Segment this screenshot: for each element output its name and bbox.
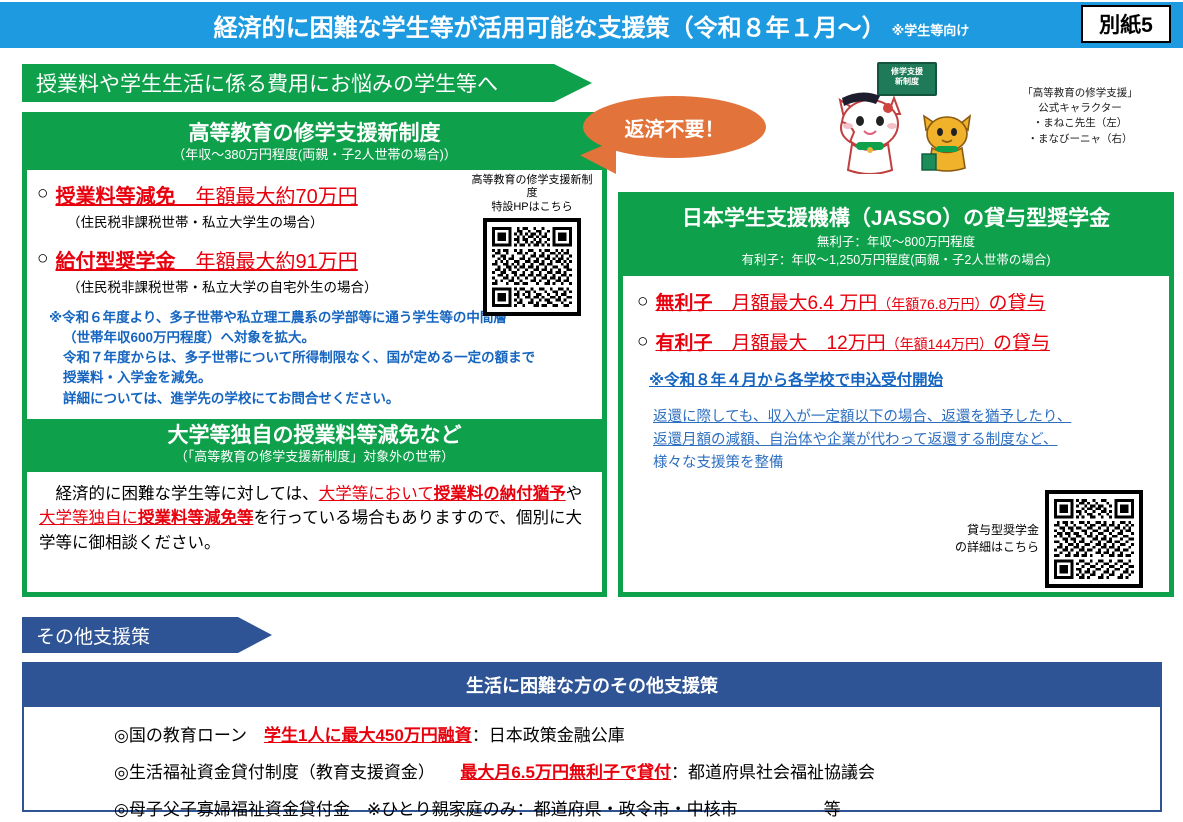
row-1-highlight: 学生1人に最大450万円融資	[264, 726, 472, 745]
qr-jasso-caption-line2: の詳細はこちら	[955, 539, 1039, 555]
jasso-bullet-1: ○ 無利子 月額最大6.4 万円（年額76.8万円）の貸与	[637, 288, 1159, 315]
other-support-row-2: ◎生活福祉資金貸付制度（教育支援資金） 最大月6.5万円無利子で貸付：都道府県社…	[114, 758, 1160, 783]
jasso-band-subtitle-2: 有利子：年収～1,250万円程度(両親・子2人世帯の場合)	[627, 252, 1165, 268]
para-seg-3: 授業料の納付猶予	[434, 485, 566, 503]
jasso-repayment-line-1: 返還に際しても、収入が一定額以下の場合、返還を猶予したり、	[653, 406, 1159, 429]
left-panel-band-1-subtitle: （年収～380万円程度(両親・子2人世帯の場合)）	[31, 147, 598, 163]
jasso-bullet-2: ○ 有利子 月額最大 12万円（年額144万円）の貸与	[637, 328, 1159, 355]
speech-bubble-no-repayment: 返済不要！	[583, 96, 766, 158]
jasso-application-notice: ※令和８年４月から各学校で申込受付開始	[649, 368, 1159, 390]
page-title: 経済的に困難な学生等が活用可能な支援策（令和８年１月～）	[214, 8, 886, 43]
left-bullet-1-amount: 年額最大約70万円	[175, 186, 357, 208]
row-3-lead: ◎母子父子寡婦福祉資金貸付金 ※ひとり親家庭のみ：都道府県・政令市・中核市	[114, 800, 738, 819]
jasso-bullet-1-term: 無利子	[655, 293, 712, 314]
maneko-sensei-cat-icon	[830, 84, 916, 174]
mascot-group: 修学支援 新制度 「高等教育の修学支援」 公式キャラクター ・まねこ先生（左） …	[822, 62, 1172, 182]
qr-jasso-caption: 貸与型奨学金 の詳細はこちら	[955, 522, 1039, 554]
page-header-bar: 経済的に困難な学生等が活用可能な支援策（令和８年１月～） ※学生等向け	[0, 2, 1183, 48]
left-panel-body: 高等教育の修学支援新制度 特設HPはこちら ○ 授業料等	[27, 170, 602, 409]
other-support-table: 生活に困難な方のその他支援策 ◎国の教育ローン 学生1人に最大450万円融資：日…	[22, 662, 1162, 812]
document-number-badge: 別紙5	[1081, 5, 1171, 43]
jasso-repayment-line-3: 様々な支援策を整備	[653, 452, 1159, 475]
bullet-circle-icon: ○	[37, 249, 48, 268]
jasso-bullet-2-tail: の貸与	[993, 333, 1050, 354]
left-panel-band-1: 高等教育の修学支援新制度 （年収～380万円程度(両親・子2人世帯の場合)）	[27, 117, 602, 170]
mascot-caption-line2: 公式キャラクター	[990, 101, 1170, 116]
qr-block-jasso[interactable]: 貸与型奨学金 の詳細はこちら	[955, 490, 1143, 588]
panel-shugaku-shien: 高等教育の修学支援新制度 （年収～380万円程度(両親・子2人世帯の場合)） 高…	[22, 112, 607, 597]
blue-note-line-4: 授業料・入学金を減免。	[49, 368, 592, 388]
jasso-repayment-line-2: 返還月額の減額、自治体や企業が代わって返還する制度など、	[653, 429, 1159, 452]
left-panel-band-2-title: 大学等独自の授業料等減免など	[31, 424, 598, 448]
blue-note-line-3: 令和７年度からは、多子世帯について所得制限なく、国が定める一定の額まで	[49, 348, 592, 368]
jasso-body: ○ 無利子 月額最大6.4 万円（年額76.8万円）の貸与 ○ 有利子 月額最大…	[623, 276, 1169, 594]
blue-note-line-2: （世帯年収600万円程度）へ対象を拡大。	[49, 328, 592, 348]
row-1-lead: ◎国の教育ローン	[114, 726, 264, 745]
jasso-band: 日本学生支援機構（JASSO）の貸与型奨学金 無利子：年収～800万円程度 有利…	[623, 197, 1169, 276]
left-panel-band-2-subtitle: （「高等教育の修学支援新制度」対象外の世帯）	[31, 449, 598, 465]
speech-bubble-label: 返済不要！	[625, 113, 725, 142]
mascot-caption-line4: ・まなびーニャ（右）	[990, 132, 1170, 147]
para-seg-1: 経済的に困難な学生等に対しては、	[39, 485, 319, 503]
mascot-caption-line3: ・まねこ先生（左）	[990, 116, 1170, 131]
left-bullet-2-term: 給付型奨学金	[55, 251, 175, 273]
row-2-highlight: 最大月6.5万円無利子で貸付	[460, 763, 671, 782]
left-bullet-1-text: 授業料等減免 年額最大約70万円	[55, 180, 357, 209]
para-seg-5: 大学等独自に	[39, 509, 138, 527]
jasso-bullet-1-annual: （年額76.8万円）	[877, 296, 988, 312]
qr-caption-line1: 高等教育の修学支援新制度	[468, 174, 596, 202]
qr-caption-line2: 特設HPはこちら	[468, 201, 596, 215]
left-panel-band-1-title: 高等教育の修学支援新制度	[31, 122, 598, 146]
jasso-bullet-2-amount: 月額最大 12万円	[713, 333, 886, 354]
jasso-bullet-1-tail: の貸与	[988, 293, 1045, 314]
para-seg-4: や	[566, 485, 583, 503]
row-1-tail: ：日本政策金融公庫	[472, 726, 625, 745]
jasso-bullet-2-term: 有利子	[655, 333, 712, 354]
manabi-nya-cat-icon	[918, 108, 978, 174]
left-panel-paragraph: 経済的に困難な学生等に対しては、大学等において授業料の納付猶予や大学等独自に授業…	[27, 472, 602, 566]
left-panel-band-2: 大学等独自の授業料等減免など （「高等教育の修学支援新制度」対象外の世帯）	[27, 419, 602, 472]
mascot-caption-line1: 「高等教育の修学支援」	[990, 86, 1170, 101]
jasso-bullet-2-annual: （年額144万円）	[886, 336, 993, 352]
other-support-row-1: ◎国の教育ローン 学生1人に最大450万円融資：日本政策金融公庫	[114, 721, 1160, 746]
jasso-repayment-note: 返還に際しても、収入が一定額以下の場合、返還を猶予したり、 返還月額の減額、自治…	[653, 406, 1159, 476]
jasso-bullet-1-text: 無利子 月額最大6.4 万円（年額76.8万円）の貸与	[655, 288, 1045, 315]
section-banner-other-support-label: その他支援策	[36, 622, 150, 649]
other-support-row-3: ◎母子父子寡婦福祉資金貸付金 ※ひとり親家庭のみ：都道府県・政令市・中核市等	[114, 795, 1160, 820]
row-3-extra: 等	[824, 800, 841, 819]
para-seg-6: 授業料等減免等	[138, 509, 254, 527]
jasso-band-title: 日本学生支援機構（JASSO）の貸与型奨学金	[627, 202, 1165, 232]
bullet-circle-icon: ○	[637, 292, 648, 311]
left-bullet-2-text: 給付型奨学金 年額最大約91万円	[55, 245, 357, 274]
section-banner-other-support: その他支援策	[22, 617, 272, 653]
left-bullet-1-term: 授業料等減免	[55, 186, 175, 208]
qr-code-jasso[interactable]	[1045, 490, 1143, 588]
para-seg-2: 大学等において	[319, 485, 434, 503]
qr-jasso-caption-line1: 貸与型奨学金	[955, 522, 1039, 538]
page-title-note: ※学生等向け	[892, 20, 970, 39]
panel-jasso-loan: 日本学生支援機構（JASSO）の貸与型奨学金 無利子：年収～800万円程度 有利…	[618, 192, 1174, 597]
row-2-tail: ：都道府県社会福祉協議会	[671, 763, 875, 782]
blue-note-line-5: 詳細については、進学先の学校にてお問合せください。	[49, 389, 592, 409]
jasso-bullet-1-amount: 月額最大6.4 万円	[713, 293, 878, 314]
jasso-bullet-2-text: 有利子 月額最大 12万円（年額144万円）の貸与	[655, 328, 1050, 355]
other-support-table-body: ◎国の教育ローン 学生1人に最大450万円融資：日本政策金融公庫 ◎生活福祉資金…	[24, 707, 1160, 820]
left-panel-blue-note: ※令和６年度より、多子世帯や私立理工農系の学部等に通う学生等の中間層 （世帯年収…	[49, 308, 592, 409]
row-2-lead: ◎生活福祉資金貸付制度（教育支援資金）	[114, 763, 460, 782]
mascot-signboard-line1: 修学支援	[879, 67, 935, 77]
jasso-band-subtitle-1: 無利子：年収～800万円程度	[627, 234, 1165, 250]
qr-code-shugaku[interactable]	[483, 218, 581, 316]
bullet-circle-icon: ○	[637, 332, 648, 351]
bullet-circle-icon: ○	[37, 184, 48, 203]
other-support-table-header: 生活に困難な方のその他支援策	[24, 664, 1160, 707]
qr-block-shugaku[interactable]: 高等教育の修学支援新制度 特設HPはこちら	[468, 174, 596, 316]
section-banner-student-costs: 授業料や学生生活に係る費用にお悩みの学生等へ	[22, 64, 592, 102]
mascot-caption: 「高等教育の修学支援」 公式キャラクター ・まねこ先生（左） ・まなびーニャ（右…	[990, 86, 1170, 147]
section-banner-label: 授業料や学生生活に係る費用にお悩みの学生等へ	[36, 68, 498, 98]
left-bullet-2-amount: 年額最大約91万円	[175, 251, 357, 273]
